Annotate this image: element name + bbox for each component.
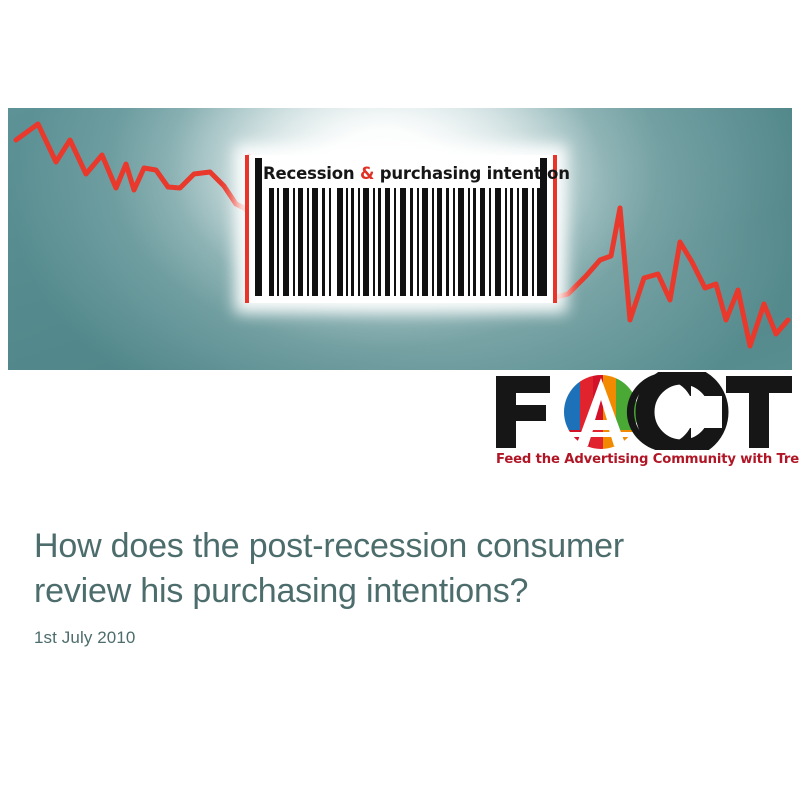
trend-line-left <box>16 124 249 213</box>
fact-letter-t <box>726 376 792 448</box>
fact-letter-c <box>627 372 722 450</box>
barcode-panel: Recession & purchasing intention <box>245 155 557 303</box>
title-slide: Recession & purchasing intention <box>0 0 800 800</box>
trend-line-right <box>553 160 788 346</box>
barcode-guard-right <box>540 158 547 296</box>
barcode-left-edge-bar <box>245 155 249 303</box>
barcode-title-ampersand: & <box>360 164 374 183</box>
barcode-title: Recession & purchasing intention <box>263 161 541 187</box>
barcode-bars <box>255 188 547 296</box>
page-title-line-1: How does the post-recession consumer <box>34 524 754 569</box>
fact-logo: Feed the Advertising Community with Tren… <box>494 372 794 478</box>
barcode-stripes <box>255 188 547 296</box>
barcode-guard-left <box>255 158 262 296</box>
fact-letter-f <box>496 376 550 448</box>
recession-banner: Recession & purchasing intention <box>8 108 792 370</box>
fact-logo-mark <box>494 372 794 450</box>
presentation-date: 1st July 2010 <box>34 628 135 648</box>
barcode-title-prefix: Recession <box>263 164 360 183</box>
page-title: How does the post-recession consumer rev… <box>34 524 754 614</box>
page-title-line-2: review his purchasing intentions? <box>34 569 754 614</box>
fact-logo-tagline: Feed the Advertising Community with Tren… <box>496 452 794 467</box>
